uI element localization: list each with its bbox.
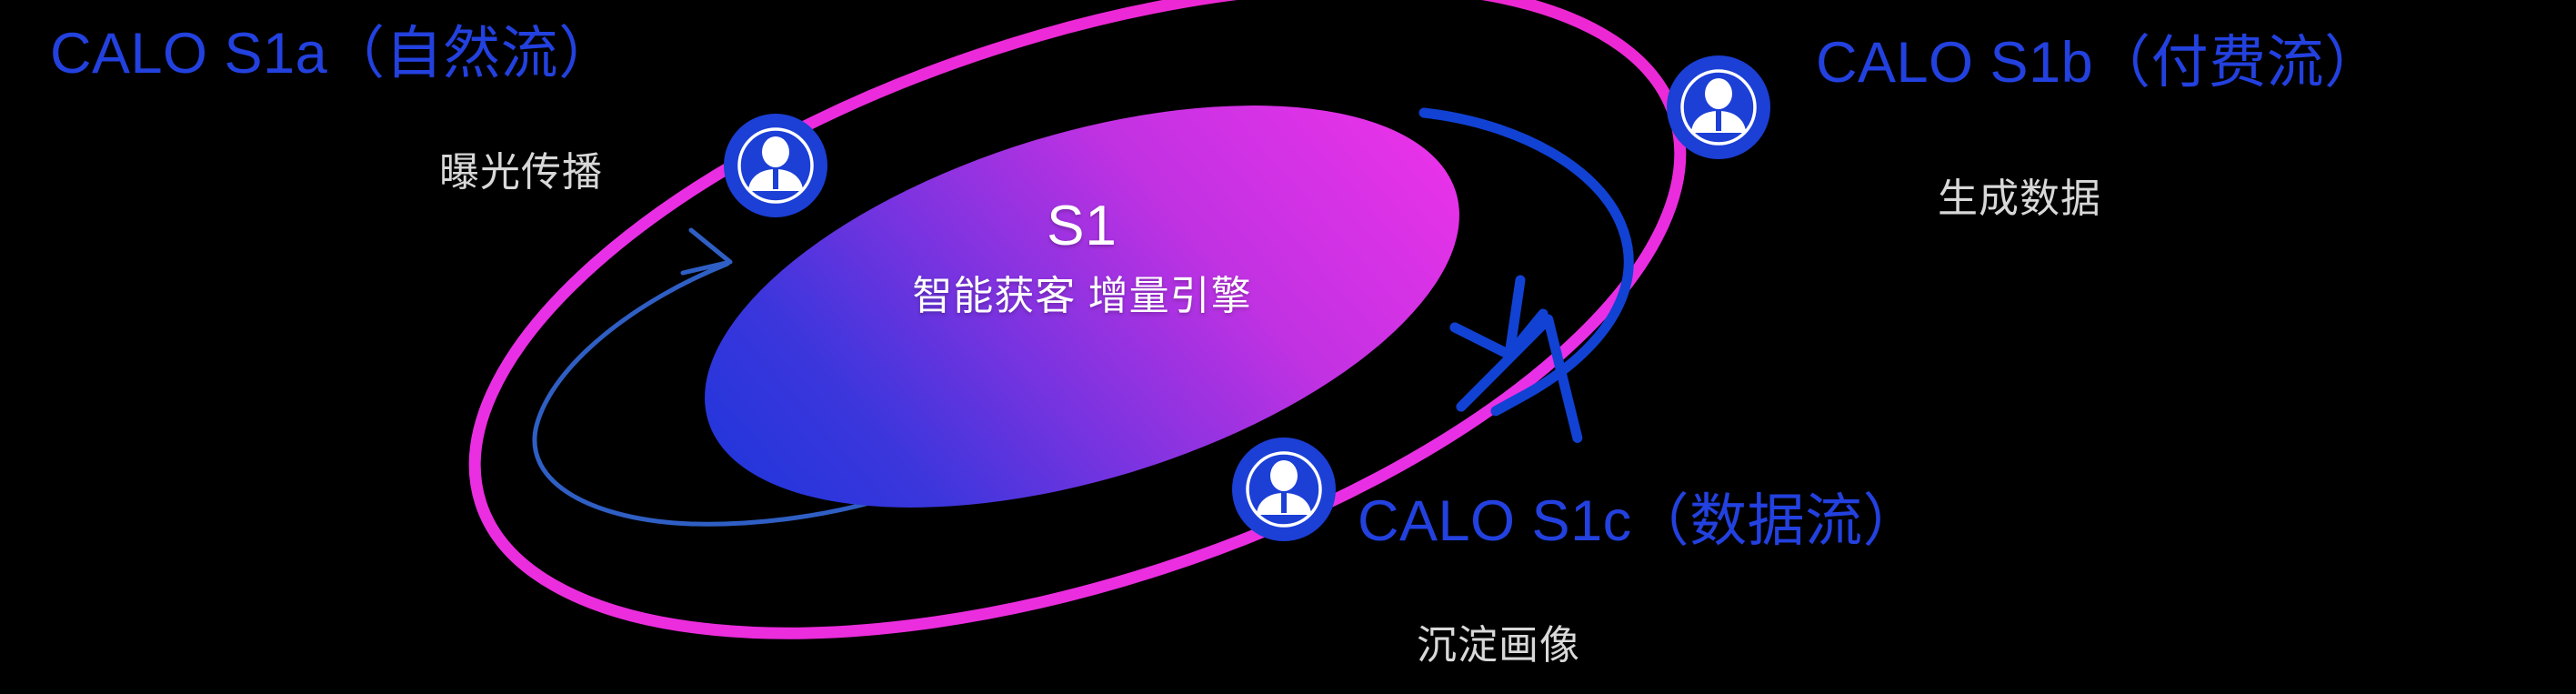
node-label-s1b-title: CALO S1b（付费流） xyxy=(1816,35,2382,92)
node-icon-s1b[interactable] xyxy=(1667,55,1770,159)
diagram-canvas: S1 智能获客 增量引擎 CALO S1a（自然流） 曝光传播 CALO S1b… xyxy=(0,0,2576,694)
core-title: S1 xyxy=(1000,198,1164,255)
node-icon-s1c[interactable] xyxy=(1232,438,1336,541)
core-subtitle: 智能获客 增量引擎 xyxy=(855,277,1309,317)
node-label-s1c-subtitle: 沉淀画像 xyxy=(1417,626,1580,666)
node-label-s1c-title: CALO S1c（数据流） xyxy=(1358,493,1920,550)
orbit-diagram xyxy=(0,0,2576,694)
node-label-s1b-subtitle: 生成数据 xyxy=(1938,179,2101,219)
node-icon-s1a[interactable] xyxy=(724,114,827,217)
right-flow-arrow xyxy=(1424,113,1629,457)
node-label-s1a-subtitle: 曝光传播 xyxy=(439,153,603,193)
node-label-s1a-title: CALO S1a（自然流） xyxy=(50,25,616,83)
